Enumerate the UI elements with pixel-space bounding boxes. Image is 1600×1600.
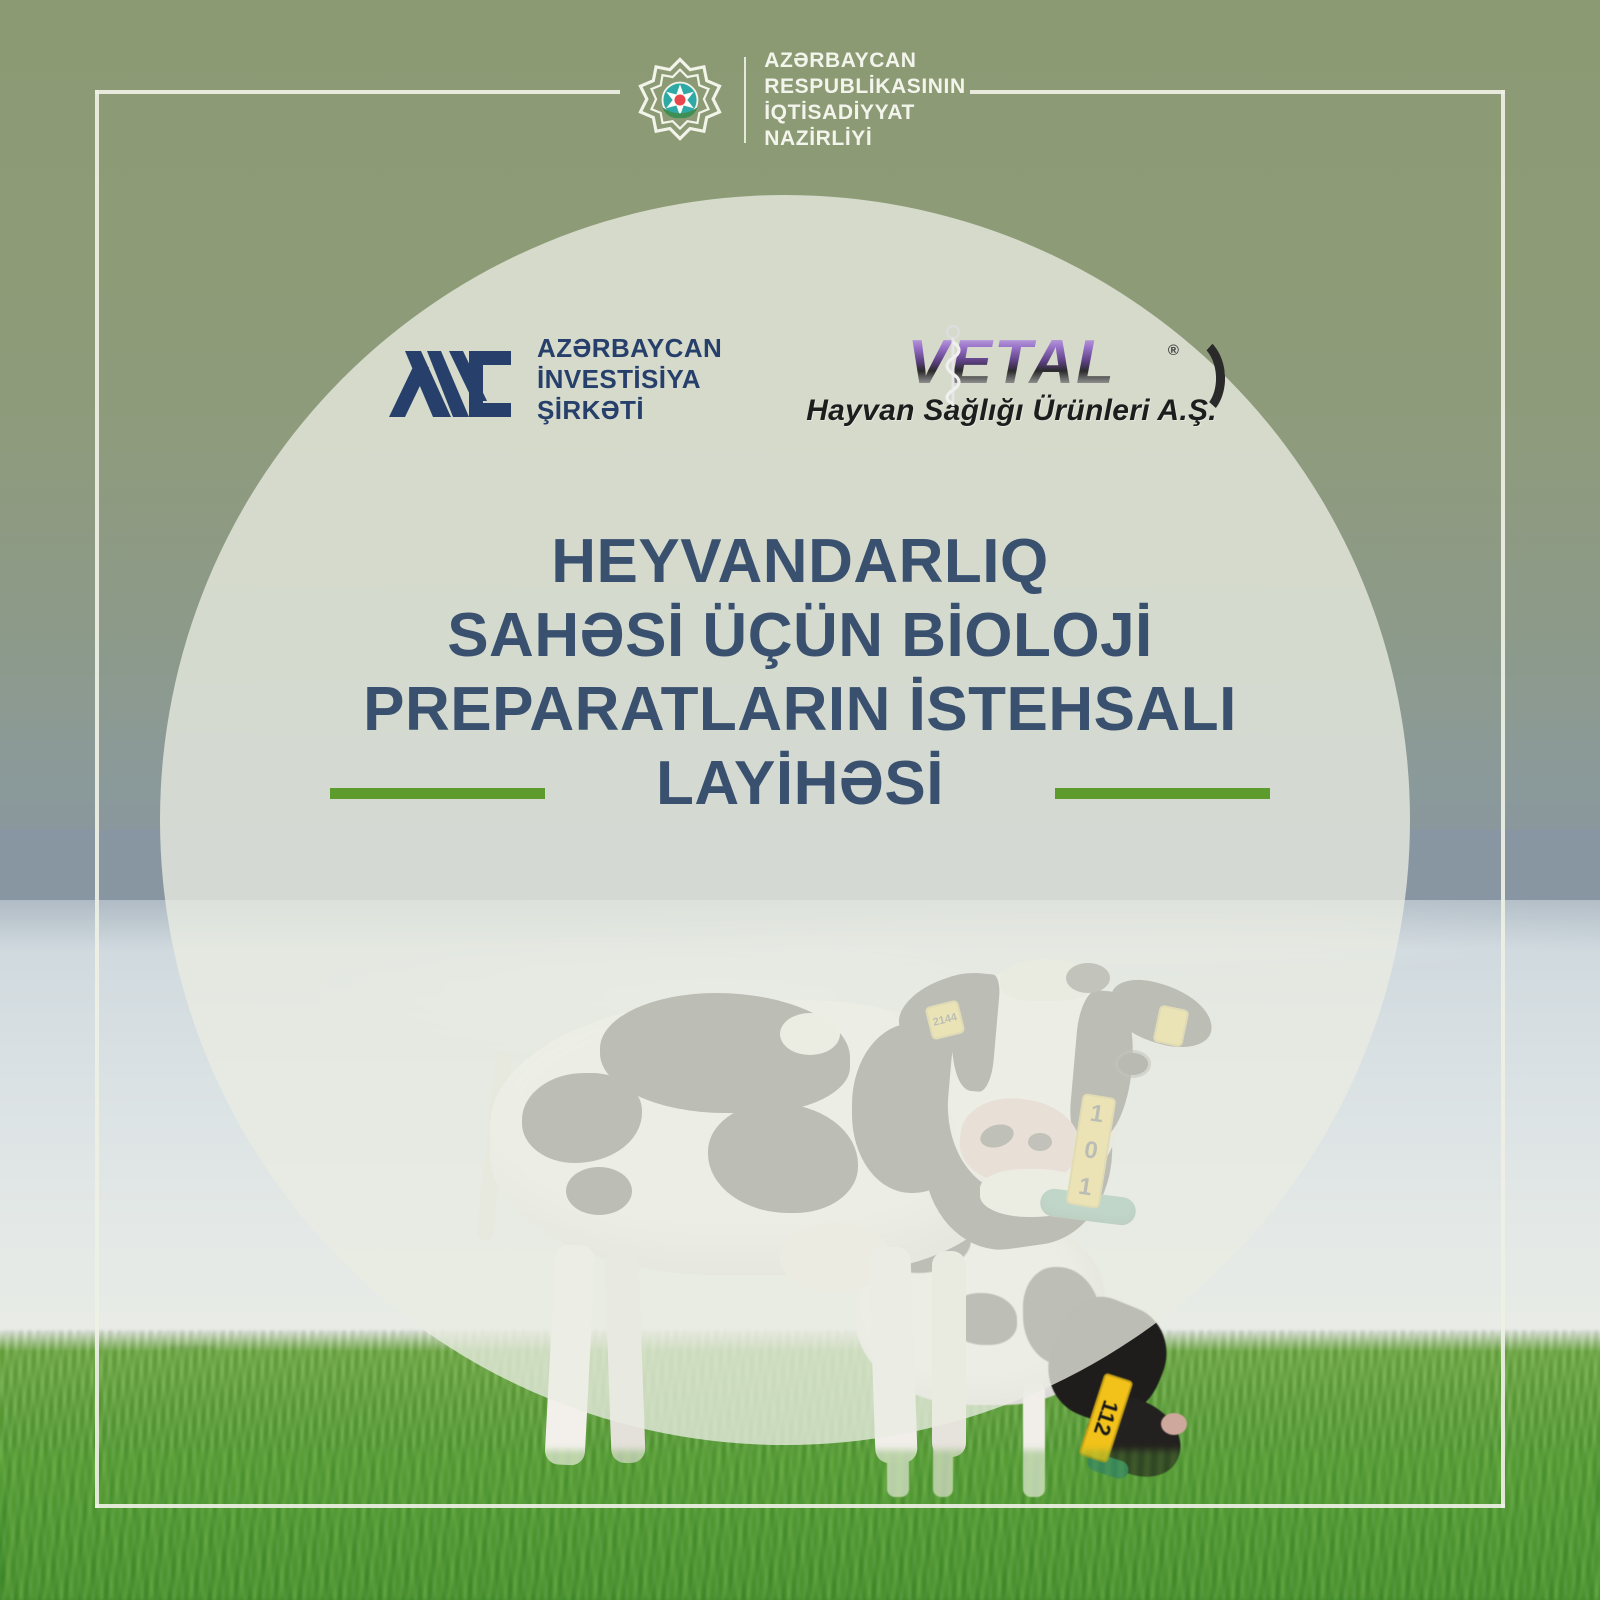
azerbaijan-state-emblem-icon — [634, 48, 726, 152]
cow-main: 2144 1 0 1 — [480, 955, 1180, 1515]
ministry-header: AZƏRBAYCAN RESPUBLİKASININ İQTİSADİYYAT … — [0, 48, 1600, 152]
poster-canvas: 112 2144 — [0, 0, 1600, 1600]
aic-monogram-icon — [383, 339, 515, 419]
olive-fade — [0, 830, 1600, 950]
page-title: HEYVANDARLIQ SAHƏSİ ÜÇÜN BİOLOJİ PREPARA… — [0, 525, 1600, 821]
ministry-line: RESPUBLİKASININ — [764, 74, 966, 100]
collar-digit: 1 — [1076, 1173, 1094, 1203]
ministry-divider — [744, 57, 746, 143]
vetal-logo: VETAL ® Hayvan Sağlığı Ürünleri A.Ş. — [806, 330, 1217, 428]
title-line: SAHƏSİ ÜÇÜN BİOLOJİ — [0, 599, 1600, 673]
vetal-tagline: Hayvan Sağlığı Ürünleri A.Ş. — [806, 394, 1217, 428]
caduceus-icon — [938, 324, 968, 408]
aic-line: AZƏRBAYCAN — [537, 333, 722, 364]
accent-bar-left — [330, 788, 545, 799]
aic-line: ŞİRKƏTİ — [537, 395, 722, 426]
title-line: PREPARATLARIN İSTEHSALI — [0, 673, 1600, 747]
title-line: LAYİHƏSİ — [0, 747, 1600, 821]
ministry-line: NAZİRLİYİ — [764, 126, 966, 152]
foreground-grass — [0, 1450, 1600, 1600]
registered-mark: ® — [1168, 342, 1179, 359]
collar-digit: 1 — [1088, 1099, 1106, 1129]
title-line: HEYVANDARLIQ — [0, 525, 1600, 599]
partner-logos: AZƏRBAYCAN İNVESTİSİYA ŞİRKƏTİ VETAL ® H… — [0, 330, 1600, 428]
cow-eye — [1118, 1053, 1148, 1075]
accent-bar-right — [1055, 788, 1270, 799]
ministry-name: AZƏRBAYCAN RESPUBLİKASININ İQTİSADİYYAT … — [764, 48, 966, 152]
accent-bars — [0, 788, 1600, 799]
aic-logo: AZƏRBAYCAN İNVESTİSİYA ŞİRKƏTİ — [383, 333, 722, 426]
aic-wordmark: AZƏRBAYCAN İNVESTİSİYA ŞİRKƏTİ — [537, 333, 722, 426]
collar-digit: 0 — [1082, 1136, 1100, 1166]
ministry-line: İQTİSADİYYAT — [764, 100, 966, 126]
ministry-line: AZƏRBAYCAN — [764, 48, 966, 74]
aic-line: İNVESTİSİYA — [537, 364, 722, 395]
